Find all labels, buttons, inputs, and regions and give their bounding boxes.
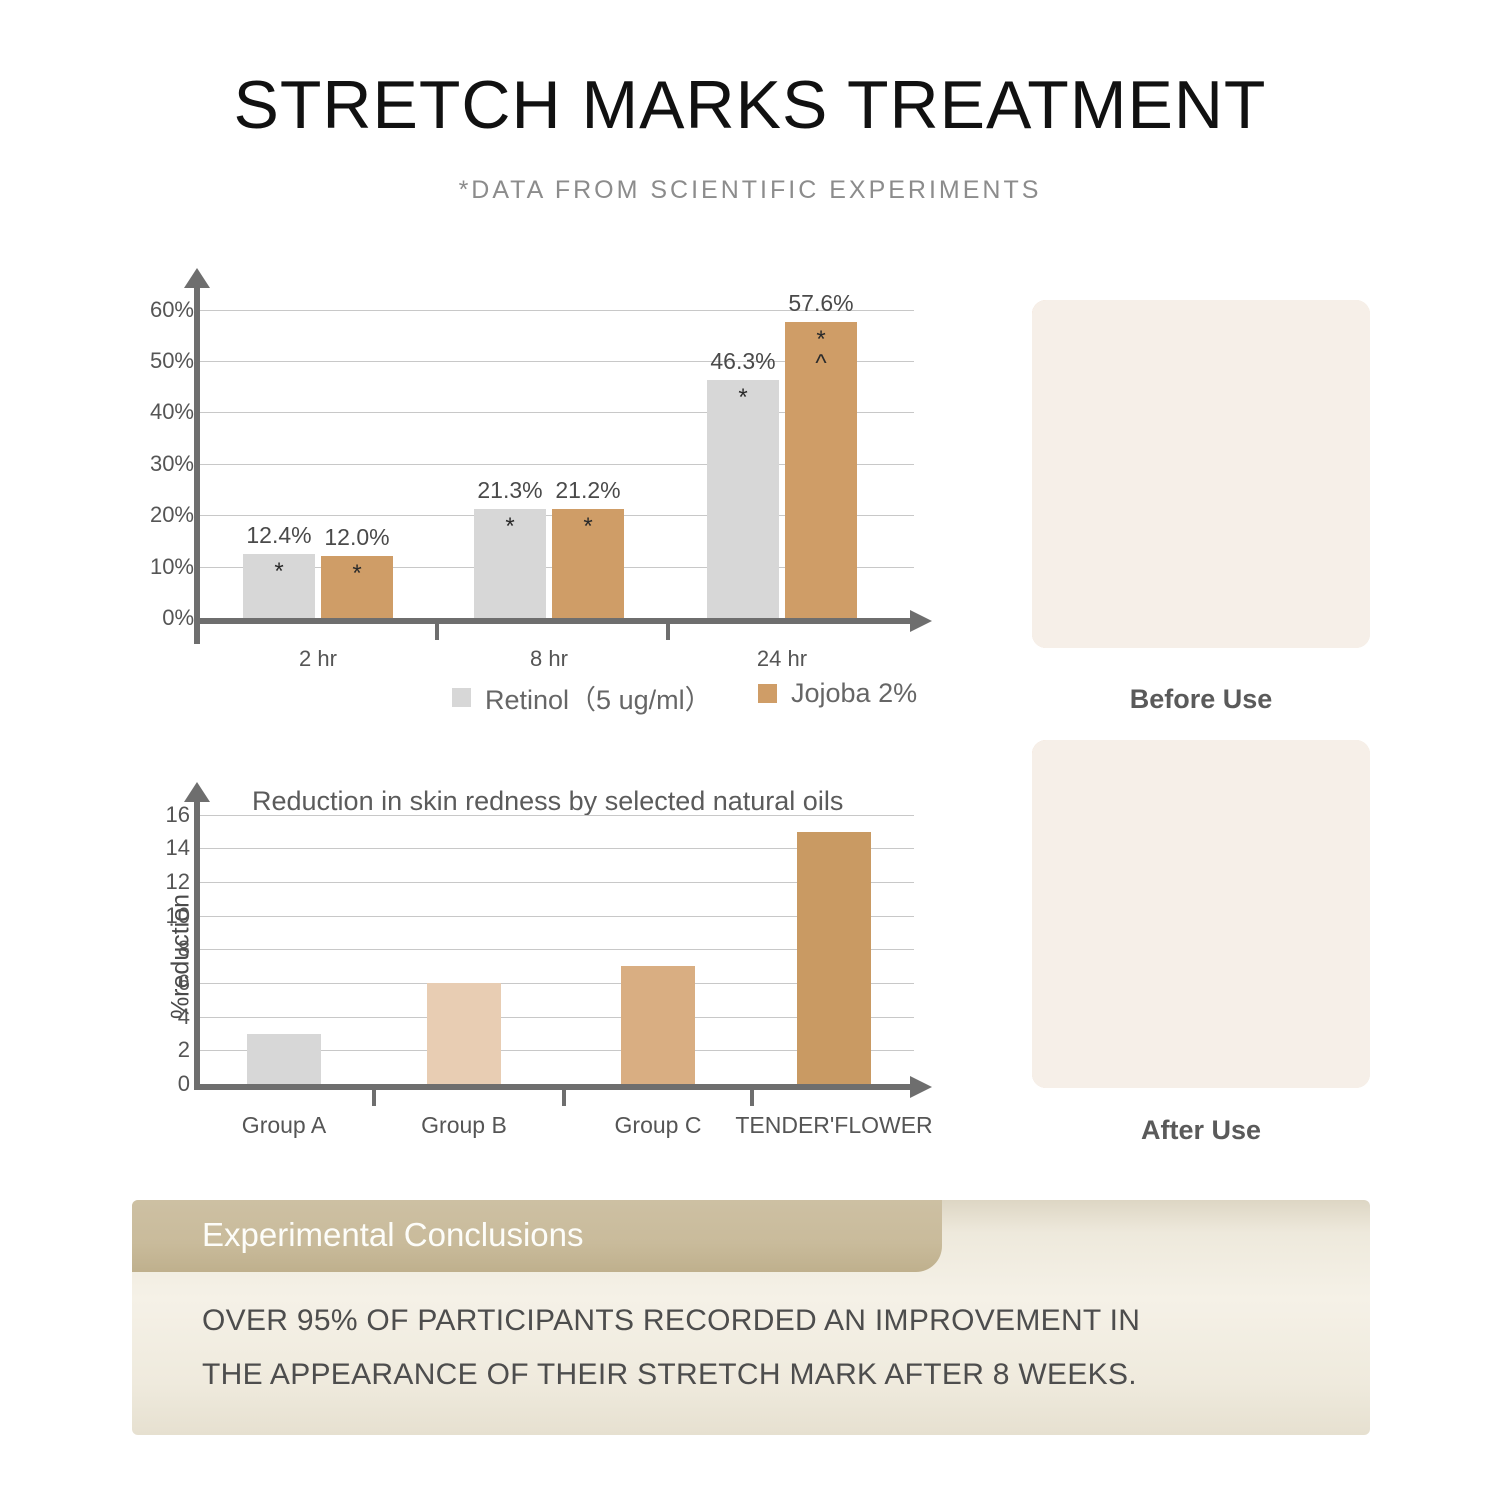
bar-value-label: 57.6%	[788, 290, 853, 317]
bar-GroupA	[247, 1034, 321, 1084]
bar-value-label: 46.3%	[710, 348, 775, 375]
chart1-y-axis-line	[194, 284, 200, 644]
chart-skin-redness-reduction: Reduction in skin redness by selected na…	[132, 782, 952, 1162]
before-photo-background	[1032, 300, 1370, 648]
x-axis-category-GroupC: Group C	[615, 1112, 702, 1139]
bar-value-label: 12.4%	[246, 522, 311, 549]
y-axis-tick-label: 50%	[138, 348, 194, 374]
y-axis-tick-label: 16	[138, 802, 190, 828]
y-axis-tick-label: 0	[138, 1071, 190, 1097]
chart2-y-axis-arrow-icon	[184, 782, 210, 802]
page-title: STRETCH MARKS TREATMENT	[0, 66, 1500, 144]
y-axis-tick-label: 14	[138, 835, 190, 861]
chart1-x-axis-line	[194, 618, 914, 624]
y-axis-tick-label: 20%	[138, 502, 194, 528]
legend-item-retinol[interactable]: Retinol（5 ug/ml）	[452, 678, 712, 717]
before-photo	[1032, 300, 1370, 648]
y-axis-tick-label: 4	[138, 1004, 190, 1030]
significance-marker: *	[274, 560, 283, 584]
chart1-legend: Retinol（5 ug/ml）Jojoba 2%	[132, 676, 952, 720]
conclusions-line-2: THE APPEARANCE OF THEIR STRETCH MARK AFT…	[202, 1358, 1322, 1392]
bar-24hr-retinol	[707, 380, 779, 618]
x-axis-category-24hr: 24 hr	[757, 646, 807, 672]
chart1-y-axis-ticks: 0%10%20%30%40%50%60%	[132, 268, 194, 618]
x-axis-tick-mark	[435, 624, 439, 640]
x-axis-tick-mark	[562, 1090, 566, 1106]
y-axis-tick-label: 12	[138, 869, 190, 895]
before-belly-image	[1032, 300, 1370, 648]
after-photo-label: After Use	[1032, 1115, 1370, 1146]
conclusions-line-1: OVER 95% OF PARTICIPANTS RECORDED AN IMP…	[202, 1304, 1322, 1338]
chart2-y-axis-line	[194, 798, 200, 1090]
chart-retinol-vs-jojoba: 0%10%20%30%40%50%60% 12.4%*12.0%*21.3%*2…	[132, 268, 952, 668]
x-axis-tick-mark	[750, 1090, 754, 1106]
chart2-y-axis-ticks: 0246810121416	[132, 782, 190, 1084]
y-axis-tick-label: 2	[138, 1037, 190, 1063]
legend-swatch-icon	[452, 688, 471, 707]
x-axis-category-8hr: 8 hr	[530, 646, 568, 672]
bar-GroupB	[427, 983, 501, 1084]
y-axis-tick-label: 60%	[138, 297, 194, 323]
x-axis-category-GroupB: Group B	[421, 1112, 507, 1139]
legend-item-jojoba[interactable]: Jojoba 2%	[758, 678, 917, 709]
significance-marker: *	[583, 515, 592, 539]
y-axis-tick-label: 10	[138, 903, 190, 929]
x-axis-category-2hr: 2 hr	[299, 646, 337, 672]
bar-TENDERFLOWER	[797, 832, 871, 1084]
legend-swatch-icon	[758, 684, 777, 703]
bar-GroupC	[621, 966, 695, 1084]
y-axis-tick-label: 30%	[138, 451, 194, 477]
y-axis-tick-label: 0%	[138, 605, 194, 631]
conclusions-tab-label: Experimental Conclusions	[202, 1216, 584, 1254]
experimental-conclusions-card: Experimental Conclusions OVER 95% OF PAR…	[132, 1200, 1370, 1435]
chart1-y-axis-arrow-icon	[184, 268, 210, 288]
x-axis-tick-mark	[666, 624, 670, 640]
y-axis-tick-label: 10%	[138, 554, 194, 580]
significance-marker: *	[352, 562, 361, 586]
page-subtitle: *DATA FROM SCIENTIFIC EXPERIMENTS	[0, 176, 1500, 205]
significance-marker: *	[738, 386, 747, 410]
bar-value-label: 21.3%	[477, 477, 542, 504]
significance-marker: *^	[815, 328, 826, 376]
after-photo-background	[1032, 740, 1370, 1088]
chart2-x-axis-arrow-icon	[910, 1076, 932, 1098]
y-axis-tick-label: 40%	[138, 399, 194, 425]
before-photo-label: Before Use	[1032, 684, 1370, 715]
chart2-x-axis-line	[194, 1084, 914, 1090]
after-belly-image	[1032, 740, 1370, 1088]
chart1-x-axis-arrow-icon	[910, 610, 932, 632]
significance-marker: *	[505, 515, 514, 539]
x-axis-tick-mark	[372, 1090, 376, 1106]
bar-value-label: 21.2%	[555, 477, 620, 504]
gridline	[200, 815, 914, 816]
x-axis-category-TENDERFLOWER: TENDER'FLOWER	[735, 1112, 932, 1139]
after-photo	[1032, 740, 1370, 1088]
y-axis-tick-label: 6	[138, 970, 190, 996]
legend-label: Jojoba 2%	[791, 678, 917, 709]
bar-value-label: 12.0%	[324, 524, 389, 551]
x-axis-category-GroupA: Group A	[242, 1112, 326, 1139]
y-axis-tick-label: 8	[138, 936, 190, 962]
legend-label: Retinol（5 ug/ml）	[485, 678, 712, 717]
infographic-page: STRETCH MARKS TREATMENT *DATA FROM SCIEN…	[0, 0, 1500, 1500]
